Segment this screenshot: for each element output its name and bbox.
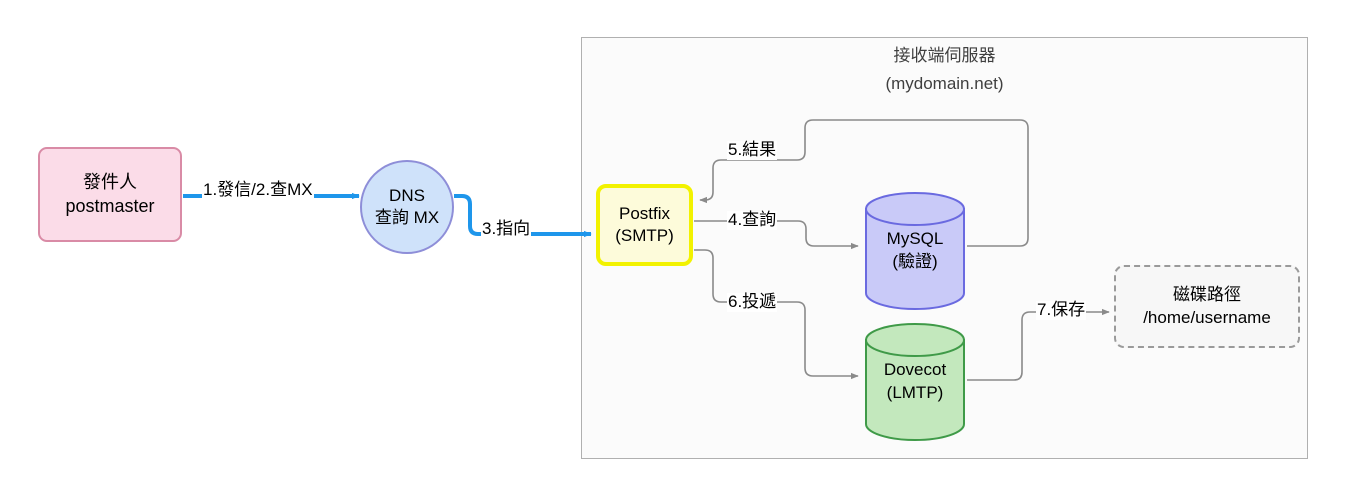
edge-7-label: 7.保存 [1036,301,1086,320]
edge-1-label: 1.發信/2.查MX [202,181,314,200]
edge-4-label: 4.查詢 [727,211,777,230]
dns-node-line1: DNS [389,185,425,207]
dns-node[interactable]: DNS 查詢 MX [360,160,454,254]
dovecot-node[interactable] [866,324,964,440]
sender-node-line1: 發件人 [83,171,137,195]
edge-6-label: 6.投遞 [727,293,777,312]
sender-node-line2: postmaster [65,195,154,219]
disk-path-node-line1: 磁碟路徑 [1173,284,1241,306]
dovecot-cylinder-top [866,324,964,356]
sender-node[interactable]: 發件人 postmaster [38,147,182,242]
edge-3-label: 3.指向 [481,220,531,239]
mysql-node[interactable] [866,193,964,309]
postfix-node-line1: Postfix [619,203,670,225]
disk-path-node[interactable]: 磁碟路徑 /home/username [1114,265,1300,348]
dns-node-line2: 查詢 MX [375,207,439,229]
disk-path-node-line2: /home/username [1143,307,1271,329]
edge-5-label: 5.結果 [727,141,777,160]
postfix-node-line2: (SMTP) [615,225,674,247]
diagram-canvas: 接收端伺服器 (mydomain.net) [0,0,1349,501]
postfix-node[interactable]: Postfix (SMTP) [596,184,693,266]
mysql-cylinder-top [866,193,964,225]
